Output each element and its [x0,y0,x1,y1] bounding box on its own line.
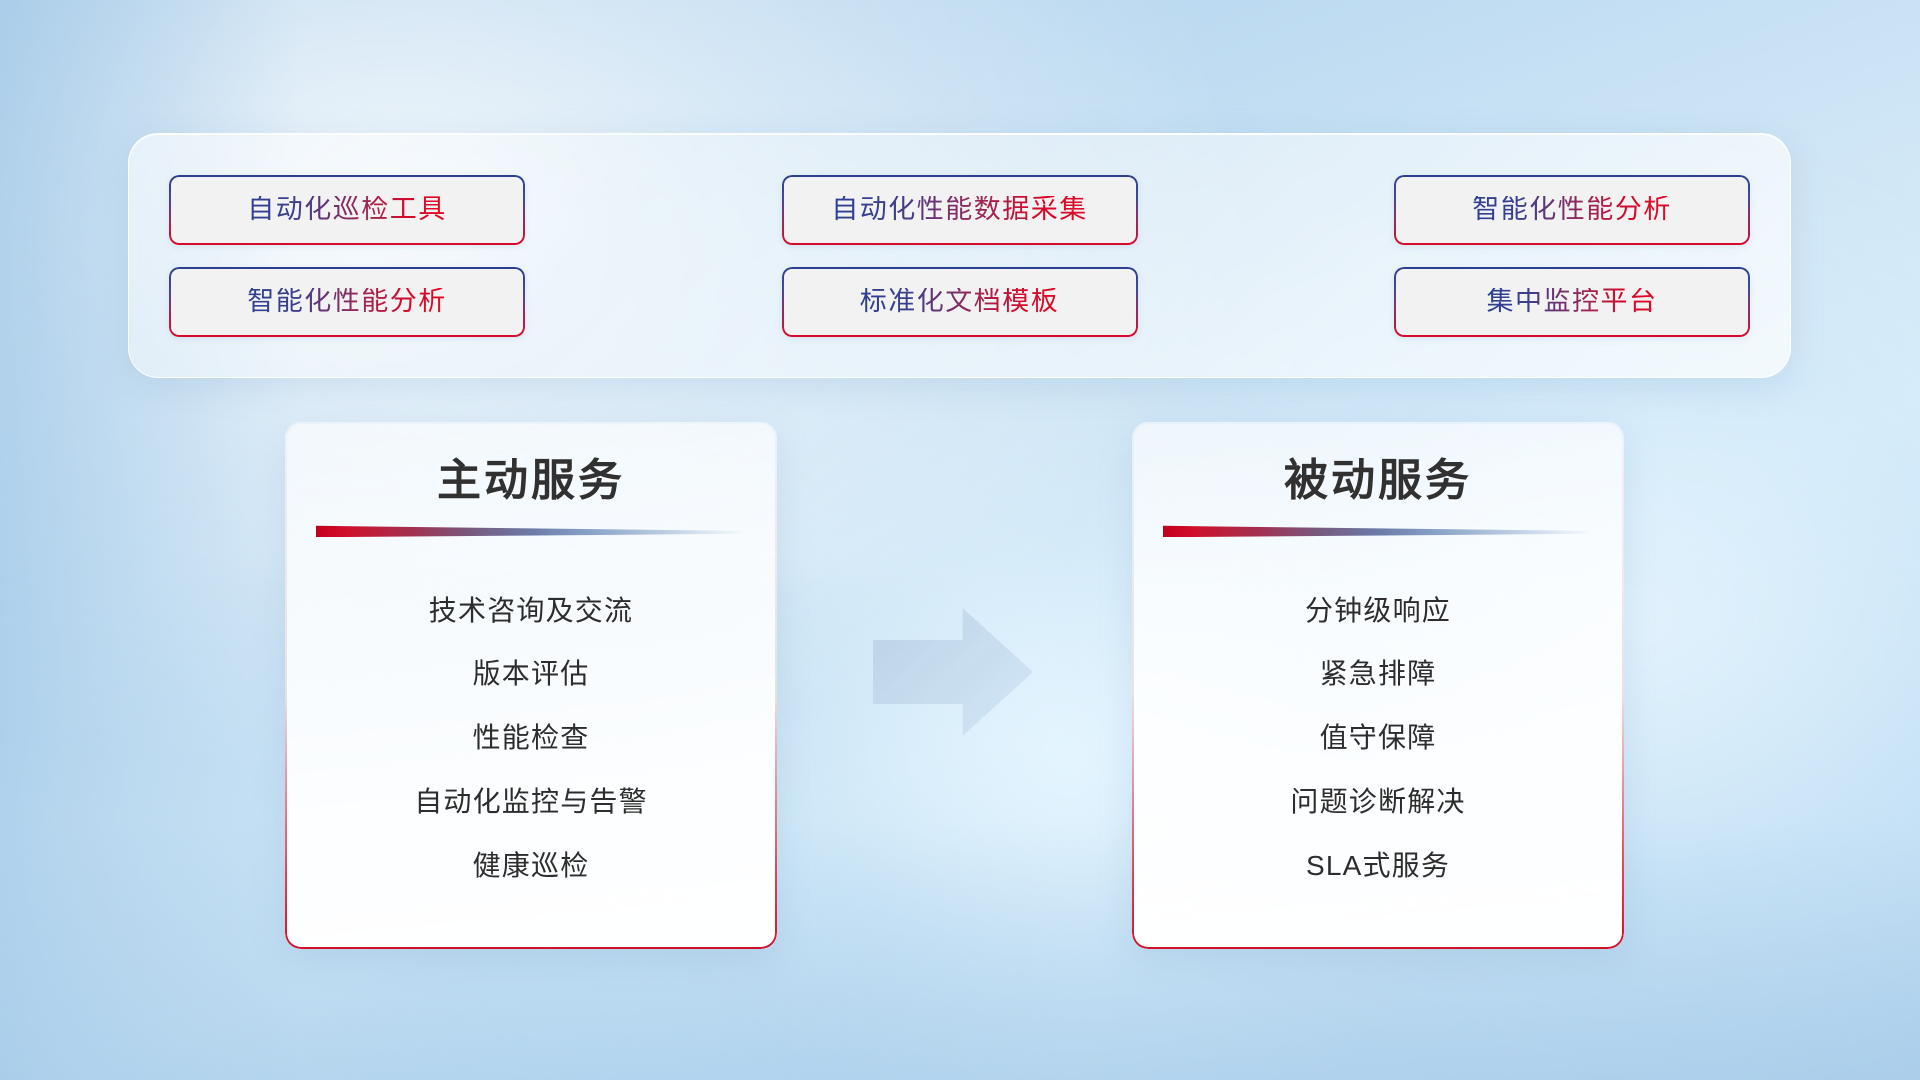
capability-tag-row-2: 智能化性能分析 标准化文档模板 集中监控平台 [169,267,1750,337]
service-card-proactive: 主动服务 技术咨询及交流 版本评估 性能检查 自动化监控与告警 健康巡检 [285,422,777,949]
diagram-canvas: 自动化巡检工具 自动化性能数据采集 智能化性能分析 智能化性能分析 标准化文档模… [0,0,1920,1080]
capability-tag[interactable]: 自动化巡检工具 [169,175,525,245]
service-item-list: 分钟级响应 紧急排障 值守保障 问题诊断解决 SLA式服务 [1168,563,1588,929]
capability-tag[interactable]: 智能化性能分析 [169,267,525,337]
capability-tags-panel: 自动化巡检工具 自动化性能数据采集 智能化性能分析 智能化性能分析 标准化文档模… [128,133,1791,378]
capability-tag-label: 智能化性能分析 [1472,196,1672,223]
service-list-item: 技术咨询及交流 [429,594,633,628]
capability-tag-label: 自动化巡检工具 [247,196,447,223]
service-list-item: 健康巡检 [473,849,590,883]
title-divider-wedge [1163,523,1593,537]
capability-tag-label: 智能化性能分析 [247,288,447,315]
service-card-body: 被动服务 分钟级响应 紧急排障 值守保障 问题诊断解决 SLA式服务 [1132,422,1624,949]
service-list-item: 自动化监控与告警 [414,785,648,819]
service-card-reactive: 被动服务 分钟级响应 紧急排障 值守保障 问题诊断解决 SLA式服务 [1132,422,1624,949]
capability-tag[interactable]: 自动化性能数据采集 [782,175,1138,245]
capability-tag-label: 标准化文档模板 [860,288,1060,315]
capability-tag-label: 自动化性能数据采集 [831,196,1088,223]
service-list-item: 紧急排障 [1320,657,1437,691]
service-list-item: 版本评估 [473,657,590,691]
service-card-title: 被动服务 [1284,456,1472,505]
service-list-item: 值守保障 [1320,721,1437,755]
capability-tag-row-1: 自动化巡检工具 自动化性能数据采集 智能化性能分析 [169,175,1750,245]
title-divider-wedge [316,523,746,537]
service-list-item: 分钟级响应 [1305,594,1451,628]
service-list-item: 性能检查 [473,721,590,755]
capability-tag[interactable]: 标准化文档模板 [782,267,1138,337]
service-card-body: 主动服务 技术咨询及交流 版本评估 性能检查 自动化监控与告警 健康巡检 [285,422,777,949]
capability-tag[interactable]: 智能化性能分析 [1394,175,1750,245]
title-divider [316,523,746,537]
service-card-title: 主动服务 [437,456,625,505]
service-item-list: 技术咨询及交流 版本评估 性能检查 自动化监控与告警 健康巡检 [321,563,741,929]
capability-tag-label: 集中监控平台 [1487,288,1658,315]
title-divider [1163,523,1593,537]
service-list-item: SLA式服务 [1306,849,1450,883]
service-list-item: 问题诊断解决 [1290,785,1465,819]
capability-tag[interactable]: 集中监控平台 [1394,267,1750,337]
